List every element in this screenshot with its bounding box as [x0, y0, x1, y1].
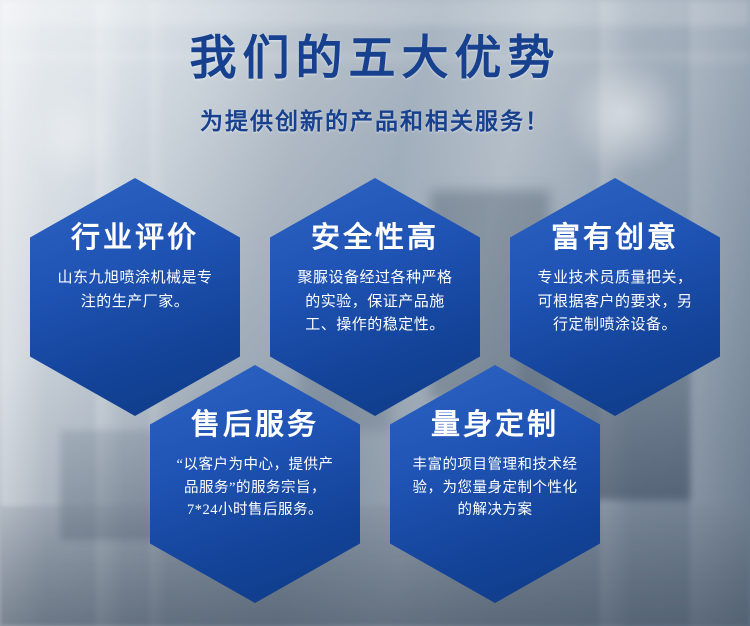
advantage-body: “以客户为中心，提供产品服务”的服务宗旨，7*24小时售后服务。	[166, 454, 344, 521]
header: 我们的五大优势 为提供创新的产品和相关服务！	[0, 34, 750, 136]
advantages-banner: 我们的五大优势 为提供创新的产品和相关服务！ 行业评价 山东九旭喷涂机械是专注的…	[0, 0, 750, 626]
advantage-body: 聚脲设备经过各种严格的实验，保证产品施工、操作的稳定性。	[286, 267, 464, 337]
advantage-title: 安全性高	[286, 222, 464, 255]
advantage-body: 山东九旭喷涂机械是专注的生产厂家。	[46, 267, 224, 314]
advantage-body: 丰富的项目管理和技术经验，为您量身定制个性化的解决方案	[406, 454, 584, 521]
page-subtitle: 为提供创新的产品和相关服务！	[0, 102, 750, 136]
advantage-title: 量身定制	[406, 409, 584, 442]
advantage-title: 富有创意	[526, 222, 704, 255]
advantage-title: 行业评价	[46, 222, 224, 255]
advantage-title: 售后服务	[166, 409, 344, 442]
advantage-body: 专业技术员质量把关，可根据客户的要求，另行定制喷涂设备。	[526, 267, 704, 337]
page-title: 我们的五大优势	[0, 34, 750, 86]
